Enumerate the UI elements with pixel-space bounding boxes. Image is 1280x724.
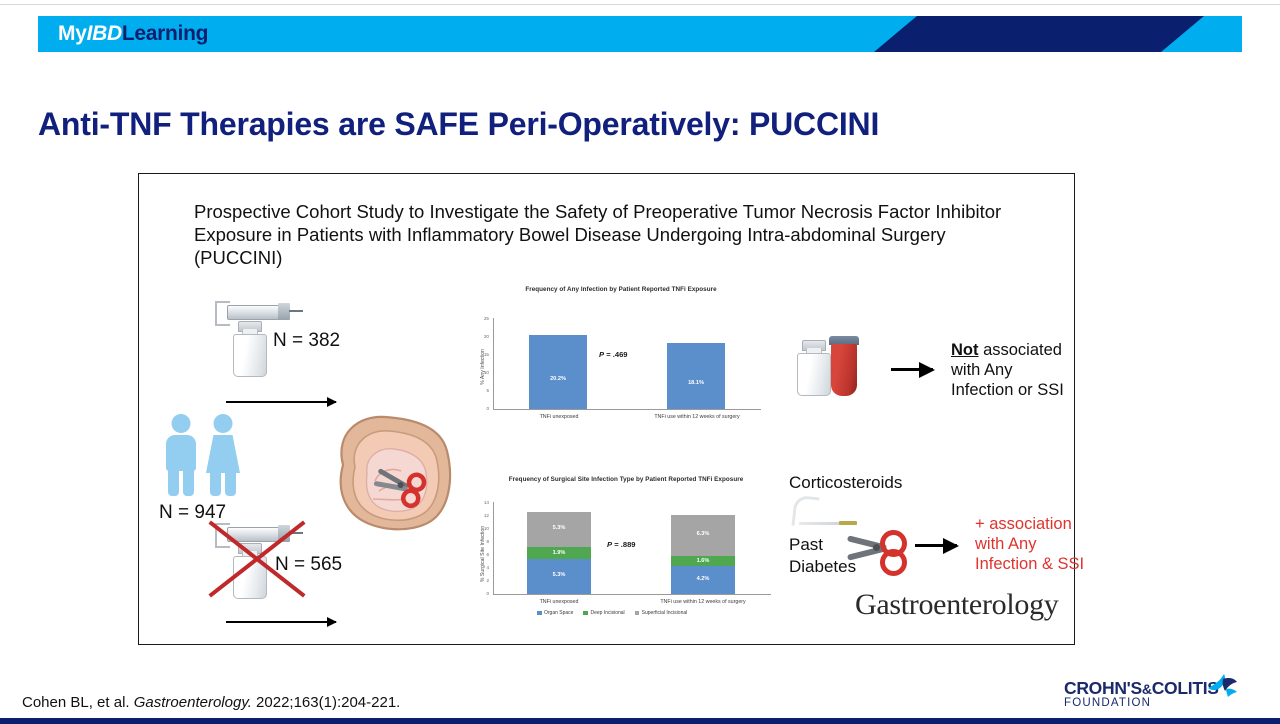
exposed-cohort-count: N = 382 <box>273 330 340 352</box>
banner-chevron-shape <box>874 16 1204 52</box>
chart2-seg-label: 6.3% <box>671 531 735 537</box>
vial-icon-crossed <box>231 543 267 597</box>
foundation-swoosh-icon <box>1204 672 1238 698</box>
site-banner <box>38 16 1242 52</box>
chart2-pvalue-number: = .889 <box>612 540 635 549</box>
chart2-seg-label: 4.2% <box>671 576 735 582</box>
callout-top-line1: Not associated <box>951 340 1062 360</box>
chart2-x-axis <box>493 594 771 595</box>
chart1-ytick: 25 <box>477 316 489 321</box>
chart2-stack-unexposed: 5.3% 1.9% 5.3% <box>527 512 591 594</box>
chart1-ytick: 0 <box>477 406 489 411</box>
chart1-bar-unexposed: 20.2% <box>529 335 587 409</box>
chart1-ytick: 15 <box>477 352 489 357</box>
org-ampersand: & <box>1142 681 1152 697</box>
chart1-ytick: 20 <box>477 334 489 339</box>
chart2-seg-deep: 1.6% <box>671 556 735 566</box>
chart2-seg-label: 1.6% <box>671 558 735 564</box>
top-edge-strip <box>0 0 1280 5</box>
callout-top-line1-rest: associated <box>979 341 1062 359</box>
chart2-stack-exposed: 6.3% 1.6% 4.2% <box>671 515 735 594</box>
patient-male-icon <box>161 414 201 496</box>
org-name-line1: CROHN'S&COLITIS <box>1064 678 1219 699</box>
page-title: Anti-TNF Therapies are SAFE Peri-Operati… <box>38 106 1248 143</box>
chart1-xtick: TNFi unexposed <box>519 414 599 420</box>
arrow-unexposed <box>226 621 336 623</box>
chart-ssi-type: Frequency of Surgical Site Infection Typ… <box>471 476 781 628</box>
callout-top-line2: with Any <box>951 360 1012 380</box>
chart2-xtick: TNFi use within 12 weeks of surgery <box>637 599 769 605</box>
chart2-ytick: 6 <box>477 552 489 557</box>
chart2-ytick: 4 <box>477 565 489 570</box>
chart1-xtick: TNFi use within 12 weeks of surgery <box>634 414 760 420</box>
callout-not-associated: Not associated with Any Infection or SSI <box>787 332 1077 442</box>
chart2-seg-label: 5.3% <box>527 525 591 531</box>
vial-icon-result <box>795 340 831 394</box>
chart1-x-axis <box>493 409 761 410</box>
arrow-exposed <box>226 401 336 403</box>
legend-swatch-superficial-incisional <box>635 611 640 616</box>
patients-icon <box>161 414 257 496</box>
chart1-title: Frequency of Any Infection by Patient Re… <box>471 286 771 293</box>
myibdlearning-logo[interactable]: MyIBDLearning <box>58 21 208 47</box>
citation: Cohen BL, et al. Gastroenterology. 2022;… <box>22 694 400 711</box>
legend-label: Deep Incisional <box>590 610 624 616</box>
arrow-result-top <box>891 368 933 371</box>
chart2-ytick: 12 <box>477 513 489 518</box>
logo-text-learning: Learning <box>122 22 208 46</box>
legend-item-organ-space: Organ Space <box>537 610 573 616</box>
chart2-seg-superficial: 6.3% <box>671 515 735 556</box>
chart1-bar-label: 18.1% <box>667 380 725 386</box>
chart2-title: Frequency of Surgical Site Infection Typ… <box>471 476 781 483</box>
graphical-abstract-panel: Prospective Cohort Study to Investigate … <box>138 173 1075 645</box>
legend-label: Superficial Incisional <box>642 610 688 616</box>
scissors-icon <box>847 528 905 570</box>
vial-icon-body <box>231 321 267 375</box>
chart1-pvalue: P = .469 <box>599 350 628 359</box>
legend-item-superficial-incisional: Superficial Incisional <box>635 610 688 616</box>
gastroenterology-journal-logo: Gastroenterology <box>855 588 1058 622</box>
chart1-pvalue-number: = .469 <box>604 350 627 359</box>
patient-female-icon <box>203 414 243 496</box>
chart2-ytick: 14 <box>477 500 489 505</box>
callout-positive-association: Corticosteroids Past Diabetes + associat… <box>779 472 1079 592</box>
legend-swatch-organ-space <box>537 611 542 616</box>
org-crohns: CROHN'S <box>1064 678 1142 698</box>
chart2-seg-label: 1.9% <box>527 550 591 556</box>
chart2-seg-organ: 4.2% <box>671 566 735 594</box>
chart1-bar-label: 20.2% <box>529 376 587 382</box>
callout-bottom-line3: Infection & SSI <box>975 554 1084 574</box>
legend-label: Organ Space <box>544 610 573 616</box>
citation-details: 2022;163(1):204-221. <box>252 694 400 711</box>
chart2-ytick: 10 <box>477 526 489 531</box>
chart2-seg-label: 5.3% <box>527 572 591 578</box>
bowel-surgery-illustration <box>323 407 463 537</box>
citation-authors: Cohen BL, et al. <box>22 694 134 711</box>
chart2-xtick: TNFi unexposed <box>519 599 599 605</box>
chart1-y-axis-label: % Any Infection <box>480 339 486 395</box>
chart2-legend: Organ Space Deep Incisional Superficial … <box>537 610 687 616</box>
legend-swatch-deep-incisional <box>583 611 588 616</box>
cohort-diagram: N = 382 N = 947 N = 565 <box>139 299 469 639</box>
logo-text-my: My <box>58 22 87 46</box>
study-title: Prospective Cohort Study to Investigate … <box>194 200 1024 269</box>
org-name-line2: FOUNDATION <box>1064 697 1151 709</box>
unexposed-cohort-count: N = 565 <box>275 554 342 576</box>
callout-bottom-line2: with Any <box>975 534 1036 554</box>
chart2-y-axis <box>493 502 494 594</box>
chart1-ytick: 5 <box>477 388 489 393</box>
blood-tube-icon <box>829 336 859 396</box>
chart2-seg-organ: 5.3% <box>527 559 591 594</box>
crohns-colitis-foundation-logo[interactable]: CROHN'S&COLITIS FOUNDATION <box>1064 676 1234 712</box>
chart1-bar-exposed: 18.1% <box>667 343 725 409</box>
chart2-seg-deep: 1.9% <box>527 547 591 559</box>
chart2-pvalue: P = .889 <box>607 540 636 549</box>
chart2-ytick: 0 <box>477 591 489 596</box>
risk-factor-corticosteroids: Corticosteroids <box>789 472 902 493</box>
callout-top-emphasis: Not <box>951 341 979 359</box>
arrow-result-bottom <box>915 544 957 547</box>
legend-item-deep-incisional: Deep Incisional <box>583 610 624 616</box>
chart2-seg-superficial: 5.3% <box>527 512 591 547</box>
chart2-ytick: 2 <box>477 578 489 583</box>
chart-any-infection: Frequency of Any Infection by Patient Re… <box>471 286 771 428</box>
citation-journal: Gastroenterology. <box>134 694 252 711</box>
risk-factor-past: Past <box>789 534 823 555</box>
callout-top-line3: Infection or SSI <box>951 380 1064 400</box>
bottom-edge-strip <box>0 718 1280 724</box>
callout-bottom-line1: + association <box>975 514 1072 534</box>
logo-text-ibd: IBD <box>87 22 122 46</box>
chart2-ytick: 8 <box>477 539 489 544</box>
chart1-y-axis <box>493 318 494 410</box>
chart1-ytick: 10 <box>477 370 489 375</box>
